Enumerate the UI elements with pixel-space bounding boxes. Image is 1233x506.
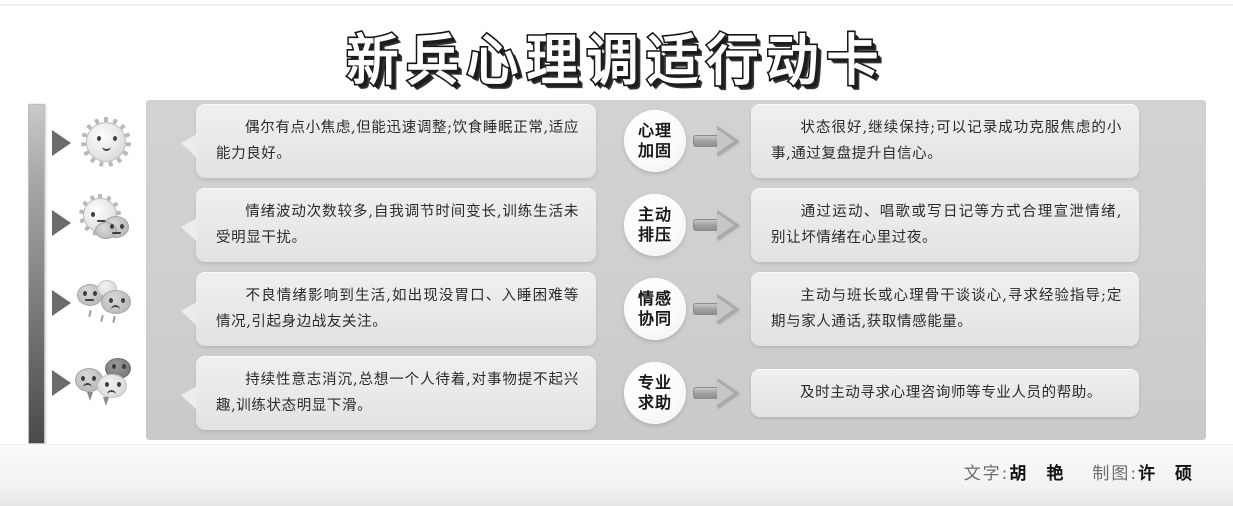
cloudy-rain-icon [75, 272, 137, 334]
credit-designer-value: 许 硕 [1138, 464, 1199, 484]
right-arrow-icon [693, 376, 741, 410]
weather-icon-column [52, 104, 140, 444]
credit-writer-value: 胡 艳 [1009, 464, 1070, 484]
symptom-text: 情绪波动次数较多,自我调节时间变长,训练生活未受明显干扰。 [216, 204, 579, 246]
page-title: 新兵心理调适行动卡 [346, 16, 886, 96]
rain-drop [112, 316, 116, 323]
stage-label-line1: 专业 [638, 373, 672, 393]
table-row: 不良情绪影响到生活,如出现没胃口、入睡困难等情况,引起身边战友关注。 情感 协同… [146, 270, 1206, 348]
right-arrow-icon [693, 124, 741, 158]
content-panel: 偶尔有点小焦虑,但能迅速调整;饮食睡眠正常,适应能力良好。 心理 加固 状态很好… [146, 100, 1206, 440]
stage-label-line2: 加固 [638, 141, 672, 161]
stage-label-line2: 排压 [638, 225, 672, 245]
action-bubble: 主动与班长或心理骨干谈谈心,寻求经验指导;定期与家人通话,获取情感能量。 [751, 272, 1139, 347]
symptom-bubble: 偶尔有点小焦虑,但能迅速调整;饮食睡眠正常,适应能力良好。 [196, 104, 596, 179]
action-bubble: 状态很好,继续保持;可以记录成功克服焦虑的小事,通过复盘提升自信心。 [751, 104, 1139, 179]
lightning-bolt-icon [103, 397, 109, 406]
right-arrow-icon [693, 292, 741, 326]
triangle-pointer-icon [52, 130, 71, 156]
stage-label-line1: 主动 [638, 205, 672, 225]
table-row: 偶尔有点小焦虑,但能迅速调整;饮食睡眠正常,适应能力良好。 心理 加固 状态很好… [146, 102, 1206, 180]
table-row: 持续性意志消沉,总想一个人待着,对事物提不起兴趣,训练状态明显下滑。 专业 求助… [146, 354, 1206, 432]
legend-item-4 [52, 344, 140, 422]
symptom-text: 偶尔有点小焦虑,但能迅速调整;饮食睡眠正常,适应能力良好。 [216, 120, 579, 162]
stage-label-badge[interactable]: 心理 加固 [624, 110, 686, 172]
stage-label-line1: 心理 [638, 121, 672, 141]
action-text: 状态很好,继续保持;可以记录成功克服焦虑的小事,通过复盘提升自信心。 [771, 120, 1122, 162]
stage-label-line1: 情感 [638, 289, 672, 309]
action-bubble: 及时主动寻求心理咨询师等专业人员的帮助。 [751, 369, 1139, 417]
sun-disc [86, 122, 126, 162]
stage-label-badge[interactable]: 情感 协同 [624, 278, 686, 340]
credit-band: 文字:胡 艳制图:许 硕 [0, 444, 1233, 506]
lightning-bolt-icon [87, 392, 93, 401]
credit-line: 文字:胡 艳制图:许 硕 [964, 459, 1199, 484]
triangle-pointer-icon [52, 370, 71, 396]
action-bubble: 通过运动、唱歌或写日记等方式合理宣泄情绪,别让坏情绪在心里过夜。 [751, 188, 1139, 263]
symptom-text: 持续性意志消沉,总想一个人待着,对事物提不起兴趣,训练状态明显下滑。 [216, 372, 579, 414]
credit-designer-key: 制图: [1092, 464, 1138, 484]
right-arrow-icon [693, 208, 741, 242]
action-text: 通过运动、唱歌或写日记等方式合理宣泄情绪,别让坏情绪在心里过夜。 [771, 204, 1122, 246]
stage-label-badge[interactable]: 主动 排压 [624, 194, 686, 256]
page-title-wrap: 新兵心理调适行动卡 [0, 18, 1233, 93]
action-text: 及时主动寻求心理咨询师等专业人员的帮助。 [800, 385, 1102, 401]
stage-label-line2: 协同 [638, 309, 672, 329]
table-row: 情绪波动次数较多,自我调节时间变长,训练生活未受明显干扰。 主动 排压 通过运动… [146, 186, 1206, 264]
legend-item-3 [52, 264, 140, 342]
triangle-pointer-icon [52, 210, 71, 236]
action-text: 主动与班长或心理骨干谈谈心,寻求经验指导;定期与家人通话,获取情感能量。 [771, 288, 1122, 330]
legend-item-2 [52, 184, 140, 262]
symptom-bubble: 持续性意志消沉,总想一个人待着,对事物提不起兴趣,训练状态明显下滑。 [196, 356, 596, 431]
symptom-bubble: 不良情绪影响到生活,如出现没胃口、入睡困难等情况,引起身边战友关注。 [196, 272, 596, 347]
symptom-text: 不良情绪影响到生活,如出现没胃口、入睡困难等情况,引起身边战友关注。 [216, 288, 579, 330]
credit-writer-key: 文字: [964, 464, 1010, 484]
rain-drop [100, 315, 104, 322]
top-divider [0, 4, 1233, 6]
sunny-face-icon [75, 112, 137, 174]
severity-gradient-bar [28, 104, 45, 444]
rain-drop [88, 310, 92, 317]
symptom-bubble: 情绪波动次数较多,自我调节时间变长,训练生活未受明显干扰。 [196, 188, 596, 263]
stage-label-badge[interactable]: 专业 求助 [624, 362, 686, 424]
poster-root: 新兵心理调适行动卡 [0, 0, 1233, 506]
triangle-pointer-icon [52, 290, 71, 316]
sun-behind-cloud-icon [75, 192, 137, 254]
legend-item-1 [52, 104, 140, 182]
stage-label-line2: 求助 [638, 393, 672, 413]
storm-thunder-icon [75, 352, 137, 414]
